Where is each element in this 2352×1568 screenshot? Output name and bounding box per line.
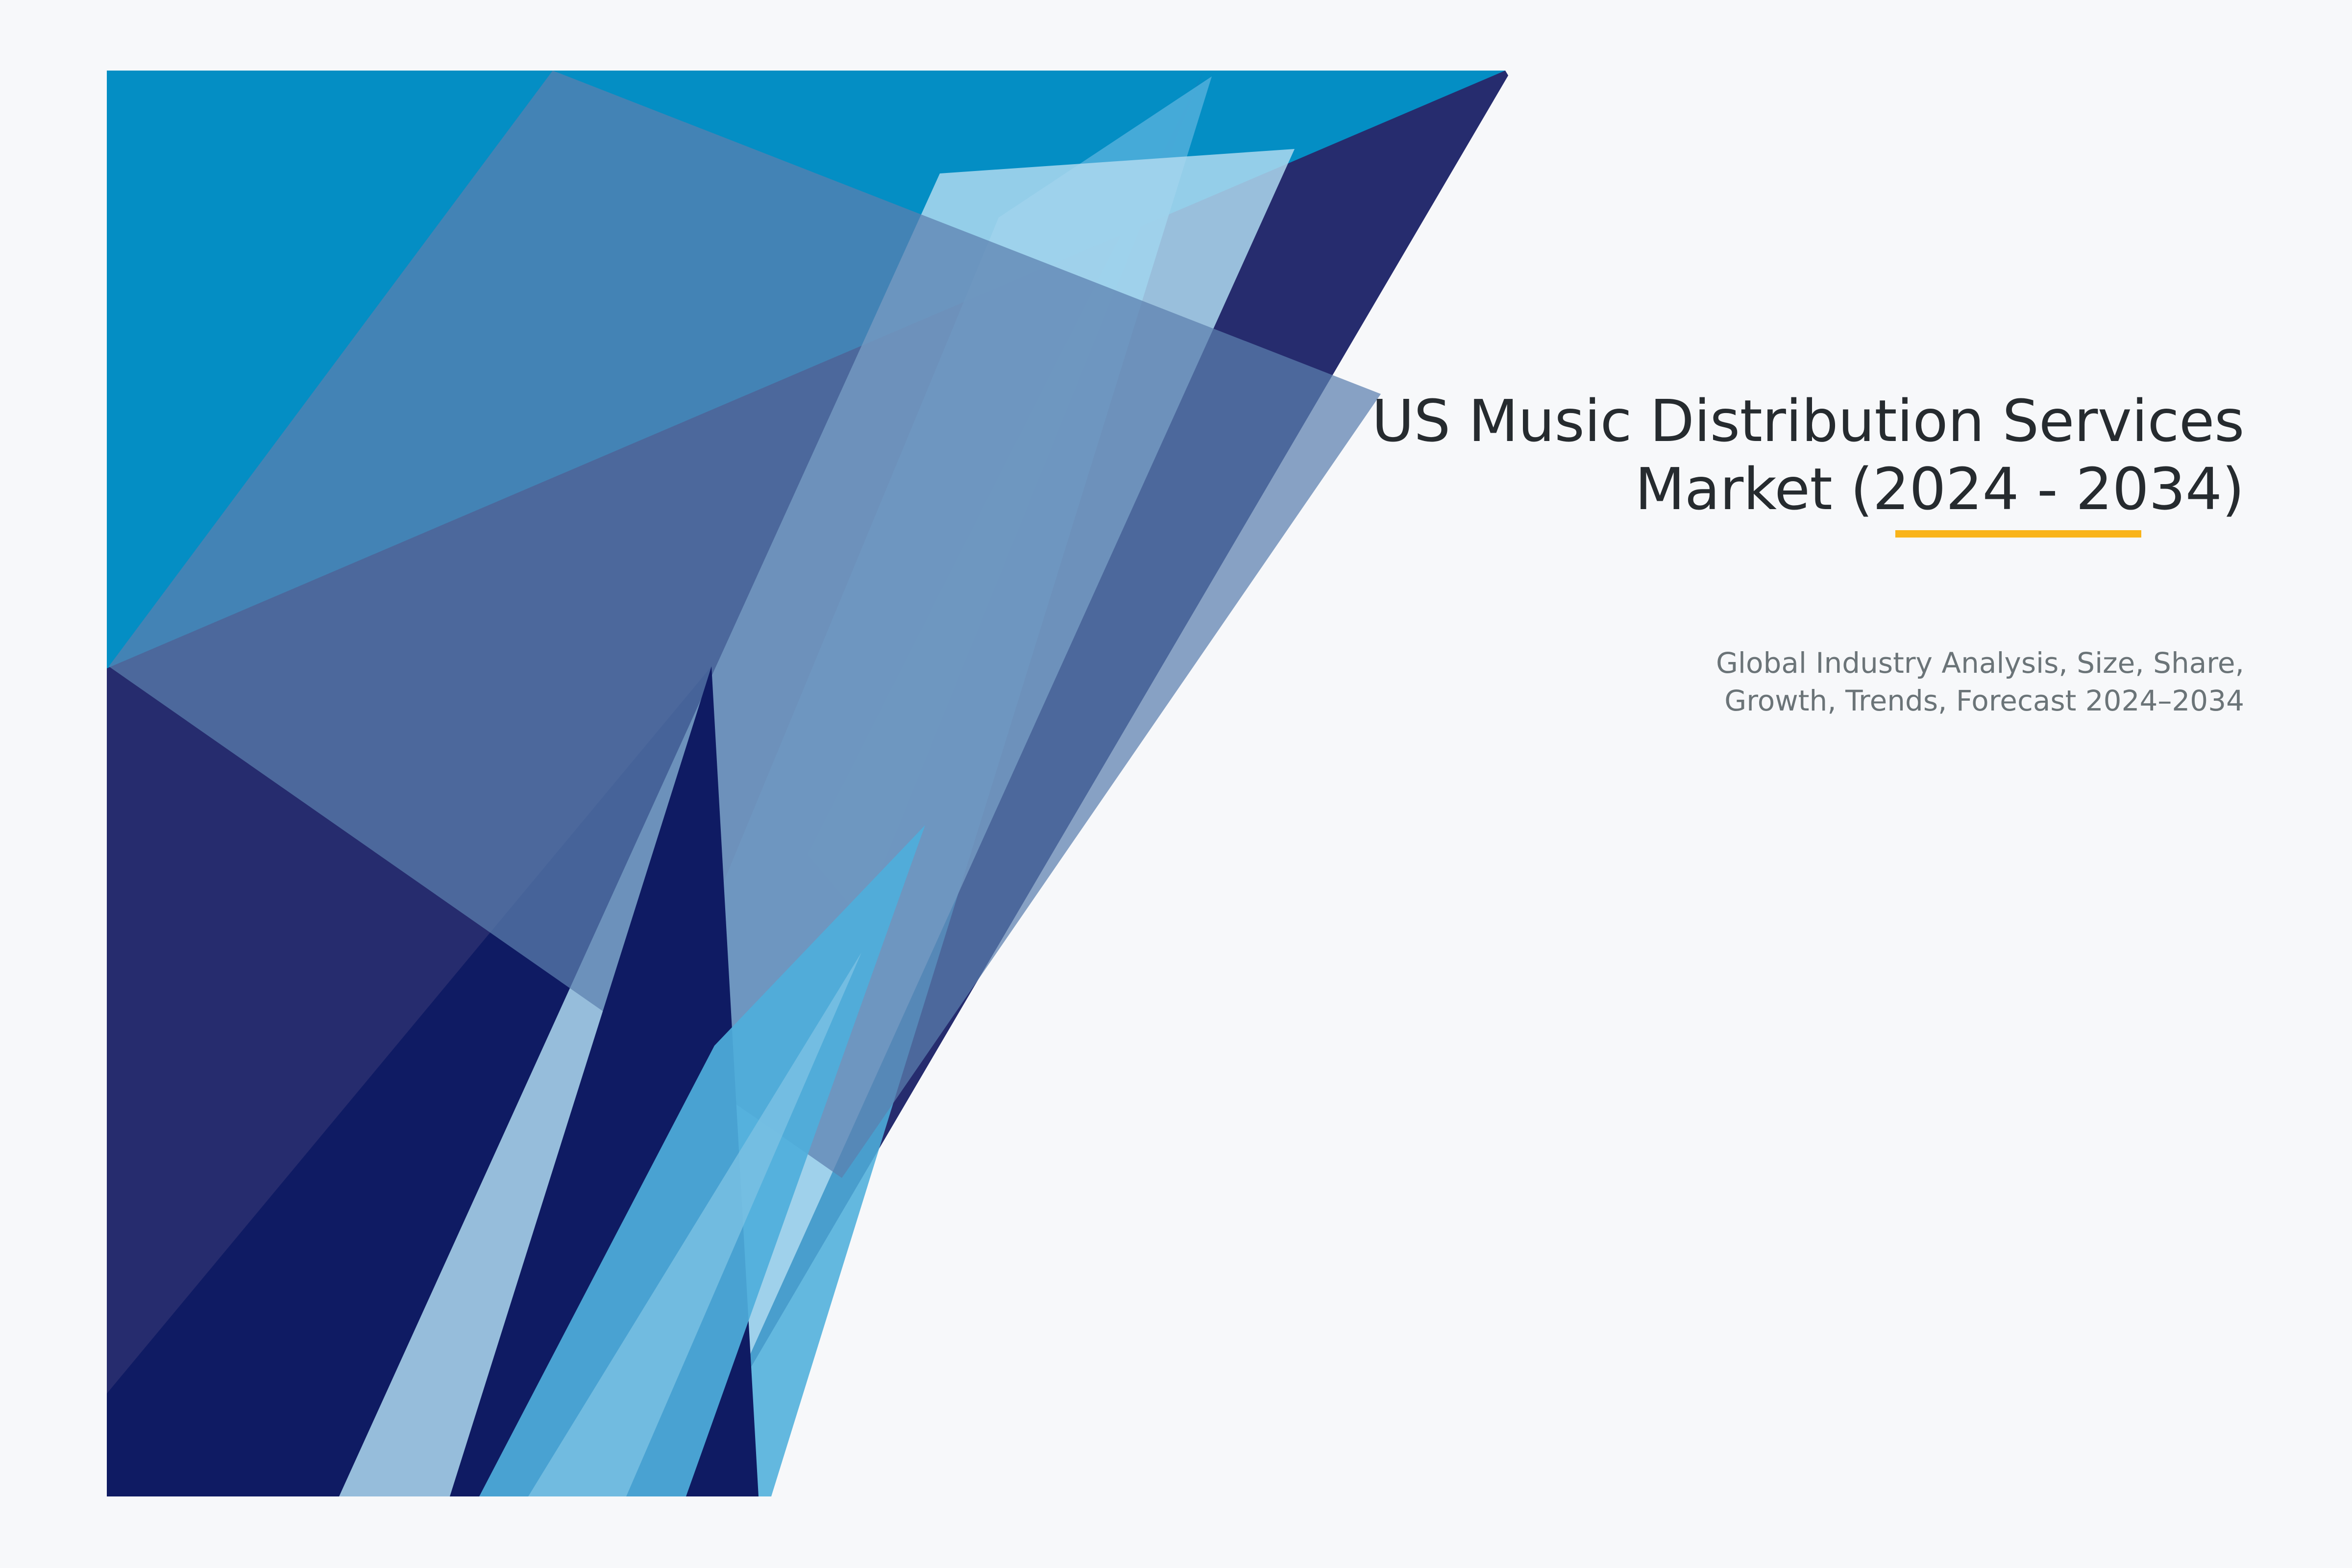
page-title: US Music Distribution Services Market (2…: [1142, 387, 2244, 523]
report-cover-page: US Music Distribution Services Market (2…: [0, 0, 2352, 1568]
abstract-geometric-artwork: [107, 71, 1508, 1496]
cover-text-block: US Music Distribution Services Market (2…: [1142, 387, 2244, 523]
artwork-svg: [107, 71, 1508, 1496]
page-subtitle: Global Industry Analysis, Size, Share, G…: [1142, 644, 2244, 719]
title-accent-underline: [1895, 530, 2141, 538]
